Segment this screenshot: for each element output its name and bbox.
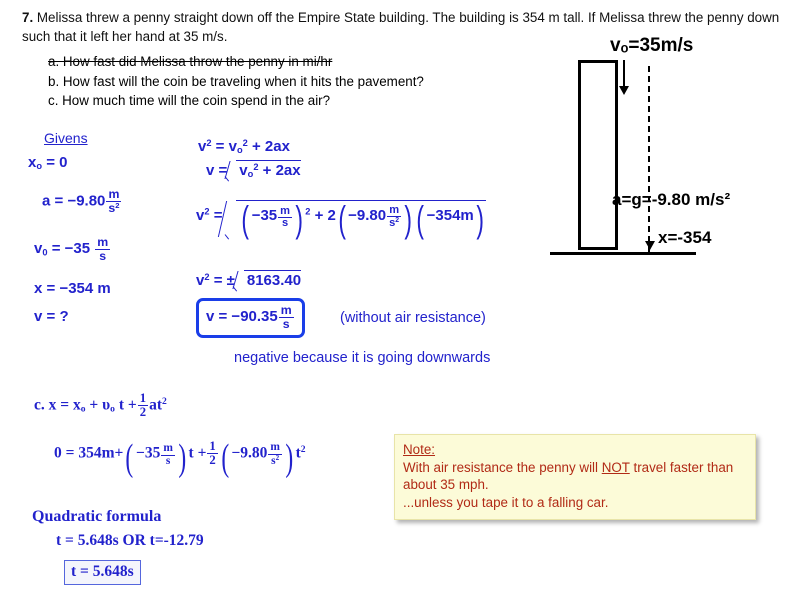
given-a-value: = −9.80: [55, 192, 106, 209]
unit-m-per-s2-c: ms2: [268, 442, 282, 467]
equation-c-general: c. x = xo + υo t +12at2: [34, 392, 167, 419]
equation-c-substituted: 0 = 354m+(−35ms)t +12(−9.80ms2)t2: [54, 440, 306, 474]
given-x-value: = −354 m: [47, 280, 111, 297]
paren-close-c1: ): [178, 444, 186, 474]
given-v0-units: ms: [95, 236, 110, 262]
paren-open-2: (: [338, 206, 346, 235]
paren-open: (: [242, 206, 250, 235]
diagram-label-v0: vₒ=35m/s: [610, 35, 693, 57]
building-diagram: vₒ=35m/s a=g=-9.80 m/s² x=-354: [540, 30, 800, 270]
initial-velocity-arrow-icon: [619, 86, 629, 95]
downward-explanation: negative because it is going downwards: [234, 350, 490, 366]
given-x: x = −354 m: [34, 280, 111, 297]
paren-open-c1: (: [126, 444, 134, 474]
given-v-value: = ?: [47, 308, 69, 325]
note-line-2: ...unless you tape it to a falling car.: [403, 494, 747, 512]
building-rectangle: [578, 60, 618, 250]
given-a-var: a: [42, 192, 50, 209]
problem-part-a: a. How fast did Melissa throw the penny …: [48, 52, 568, 72]
problem-parts-list: a. How fast did Melissa throw the penny …: [48, 52, 568, 111]
one-half-fraction: 12: [138, 392, 148, 419]
quadratic-formula-label: Quadratic formula: [32, 508, 161, 526]
given-x0: xo = 0: [28, 154, 67, 171]
initial-velocity-arrow-shaft: [623, 60, 625, 88]
problem-number: 7.: [22, 10, 33, 25]
given-v0: v0 = −35 ms: [34, 236, 111, 262]
note-line-1: With air resistance the penny will NOT t…: [403, 459, 747, 494]
given-v0-sub: 0: [42, 247, 47, 257]
equation-v-squared: v2 = vo2 + 2ax: [198, 138, 290, 155]
radical-symbol-numeric: 8163.40: [244, 270, 301, 289]
given-v: v = ?: [34, 308, 69, 325]
problem-part-c: c. How much time will the coin spend in …: [48, 91, 568, 111]
givens-title: Givens: [44, 130, 88, 146]
equation-numeric: v2 = ±8163.40: [196, 270, 301, 289]
given-v0-value: = −35: [52, 240, 90, 257]
given-a-unit-num: m: [106, 188, 121, 201]
note-emphasis: NOT: [602, 460, 630, 475]
fall-path-dashed-line: [648, 66, 650, 252]
given-a-unit-den: s2: [106, 201, 121, 215]
ground-line: [550, 252, 696, 255]
diagram-label-acceleration: a=g=-9.80 m/s²: [612, 190, 730, 210]
note-heading: Note:: [403, 441, 747, 459]
displacement-arrow-icon: [645, 241, 655, 250]
one-half-fraction-c: 12: [207, 440, 217, 467]
radical-symbol-tall: (−35ms)2 + 2(−9.80ms2)(−354m): [236, 200, 486, 237]
diagram-label-displacement: x=-354: [658, 228, 711, 248]
given-v-var: v: [34, 308, 42, 325]
unit-m-per-s2: ms2: [387, 205, 401, 229]
given-x0-sub: o: [36, 161, 42, 171]
answer-velocity-caption: (without air resistance): [340, 310, 486, 326]
quadratic-roots: t = 5.648s OR t=-12.79: [56, 532, 204, 550]
unit-m-per-s: ms: [278, 206, 292, 230]
paren-open-c2: (: [221, 444, 229, 474]
problem-part-b: b. How fast will the coin be traveling w…: [48, 72, 568, 92]
answer-v-units: ms: [279, 304, 294, 330]
paren-close-2: ): [404, 206, 412, 235]
given-x0-value: = 0: [46, 154, 67, 171]
answer-box-time: t = 5.648s: [64, 560, 141, 585]
unit-m-per-s-c: ms: [161, 443, 175, 467]
given-a: a = −9.80ms2: [42, 188, 122, 214]
equation-substituted: v2 =(−35ms)2 + 2(−9.80ms2)(−354m): [196, 200, 486, 237]
paren-close-c2: ): [285, 444, 293, 474]
radical-symbol: vo2 + 2ax: [236, 160, 300, 179]
given-a-units: ms2: [106, 188, 121, 214]
paren-close: ): [295, 206, 303, 235]
answer-box-velocity: v = −90.35ms: [196, 298, 305, 338]
paren-close-3: ): [476, 206, 484, 235]
paren-open-3: (: [417, 206, 425, 235]
equation-v-root: v =vo2 + 2ax: [206, 160, 301, 179]
given-x-var: x: [34, 280, 42, 297]
note-box: Note: With air resistance the penny will…: [394, 434, 756, 520]
